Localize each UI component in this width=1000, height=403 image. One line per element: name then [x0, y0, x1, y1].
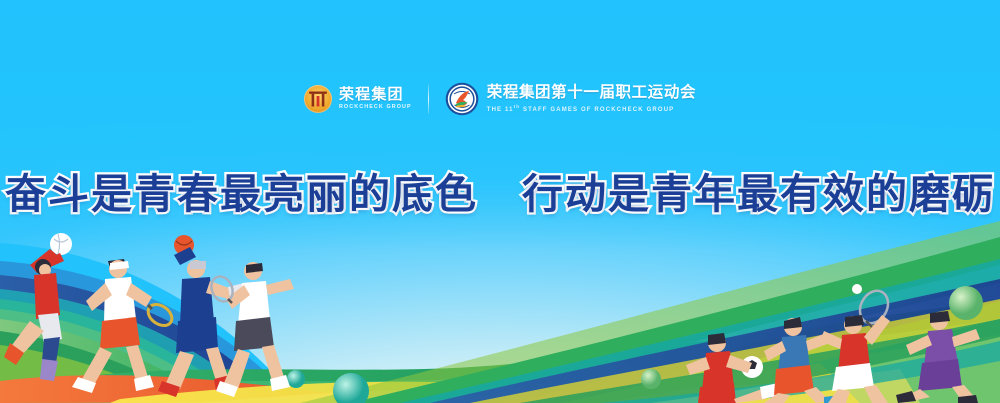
logo-divider — [428, 84, 429, 114]
sports-illustration — [0, 203, 1000, 403]
shuttlecock — [852, 284, 862, 294]
rockcheck-gate-mark-icon — [304, 85, 332, 113]
header-logo-lockup: 荣程集团 ROCKCHECK GROUP 荣 — [0, 82, 1000, 116]
sphere-green-right — [949, 286, 983, 320]
event-logo: 荣程集团第十一届职工运动会 THE 11th STAFF GAMES OF RO… — [445, 82, 696, 116]
volleyball — [50, 233, 72, 255]
sphere-green — [641, 369, 661, 389]
staff-games-emblem-icon — [445, 82, 479, 116]
event-en-title: THE 11th STAFF GAMES OF ROCKCHECK GROUP — [487, 105, 696, 113]
company-cn-name: 荣程集团 — [339, 87, 412, 102]
company-en-name: ROCKCHECK GROUP — [339, 105, 412, 111]
event-banner: 荣程集团 ROCKCHECK GROUP 荣 — [0, 0, 1000, 403]
event-cn-title: 荣程集团第十一届职工运动会 — [487, 85, 696, 101]
company-logo: 荣程集团 ROCKCHECK GROUP — [304, 85, 412, 113]
sphere-teal-small — [287, 370, 305, 388]
